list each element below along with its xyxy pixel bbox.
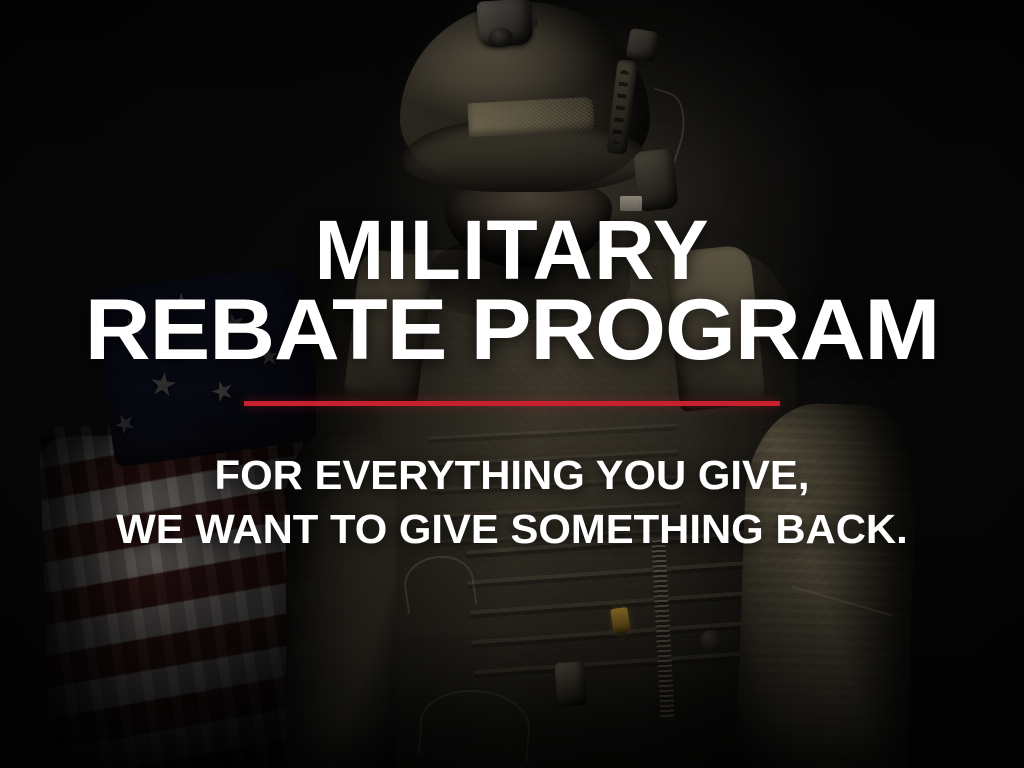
- flag-union-field: ★ ★ ★ ★ ★ ★ ★: [91, 266, 324, 467]
- flag-star-icon: ★: [257, 345, 280, 370]
- flag-star-icon: ★: [110, 408, 142, 441]
- flag-star-icon: ★: [147, 366, 180, 402]
- nvg-adjustment-dial: [490, 28, 512, 46]
- vest-snap-button: [700, 630, 722, 652]
- flag-star-icon: ★: [114, 310, 150, 348]
- soldier-arm-right: [736, 401, 919, 768]
- soldier-arm-left: [286, 430, 396, 768]
- vest-amber-accessory: [610, 607, 630, 635]
- flag-star-icon: ★: [170, 289, 193, 315]
- helmet-id-tag: [620, 196, 642, 211]
- flag-star-icon: ★: [207, 375, 238, 408]
- helmet-rail-clip: [626, 28, 659, 62]
- molle-webbing-upper: [427, 424, 682, 547]
- helmet-velcro-patch: [467, 97, 595, 138]
- arm-camo-texture: [736, 401, 919, 768]
- flag-star-icon: ★: [218, 307, 249, 340]
- shoulder-strap-right: [664, 244, 766, 412]
- poster-canvas: ★ ★ ★ ★ ★ ★ ★: [0, 0, 1024, 768]
- background-photo: ★ ★ ★ ★ ★ ★ ★: [0, 0, 1024, 768]
- vest-buckle: [555, 661, 588, 707]
